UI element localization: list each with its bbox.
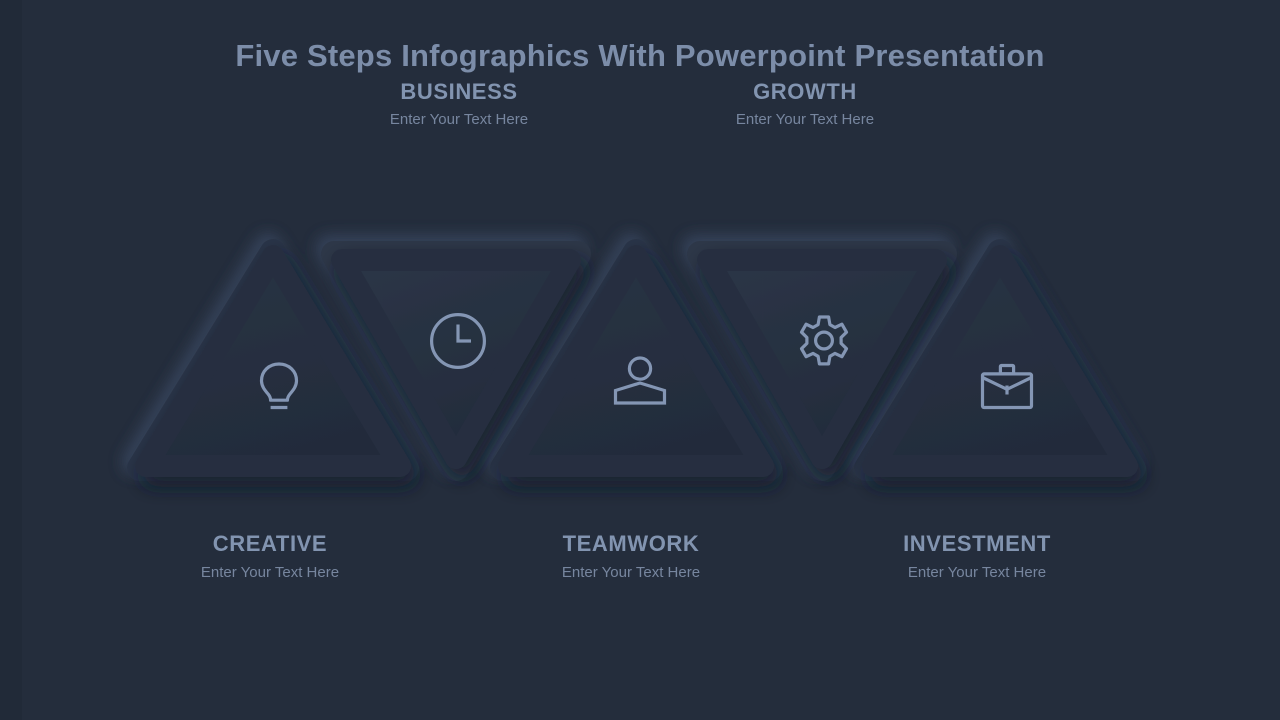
top-label-growth-subtitle: Enter Your Text Here: [655, 110, 955, 130]
bottom-label-teamwork-heading: TEAMWORK: [471, 530, 791, 558]
top-label-business-subtitle: Enter Your Text Here: [309, 110, 609, 130]
top-label-growth: GROWTH Enter Your Text Here: [655, 78, 955, 129]
clock-icon[interactable]: [428, 311, 488, 371]
bottom-label-creative-heading: CREATIVE: [110, 530, 430, 558]
bottom-label-creative: CREATIVE Enter Your Text Here: [110, 530, 430, 582]
briefcase-icon[interactable]: [979, 362, 1035, 412]
top-label-business: BUSINESS Enter Your Text Here: [309, 78, 609, 129]
top-label-growth-heading: GROWTH: [655, 78, 955, 106]
person-icon[interactable]: [612, 356, 668, 406]
bottom-label-teamwork: TEAMWORK Enter Your Text Here: [471, 530, 791, 582]
page-title: Five Steps Infographics With Powerpoint …: [0, 38, 1280, 74]
top-label-business-heading: BUSINESS: [309, 78, 609, 106]
infographic-slide: Five Steps Infographics With Powerpoint …: [0, 0, 1280, 720]
bottom-label-investment-subtitle: Enter Your Text Here: [817, 563, 1137, 583]
lightbulb-icon[interactable]: [256, 361, 302, 417]
bottom-label-investment: INVESTMENT Enter Your Text Here: [817, 530, 1137, 582]
bottom-label-teamwork-subtitle: Enter Your Text Here: [471, 563, 791, 583]
gear-icon[interactable]: [794, 314, 854, 376]
bottom-label-investment-heading: INVESTMENT: [817, 530, 1137, 558]
bottom-label-creative-subtitle: Enter Your Text Here: [110, 563, 430, 583]
